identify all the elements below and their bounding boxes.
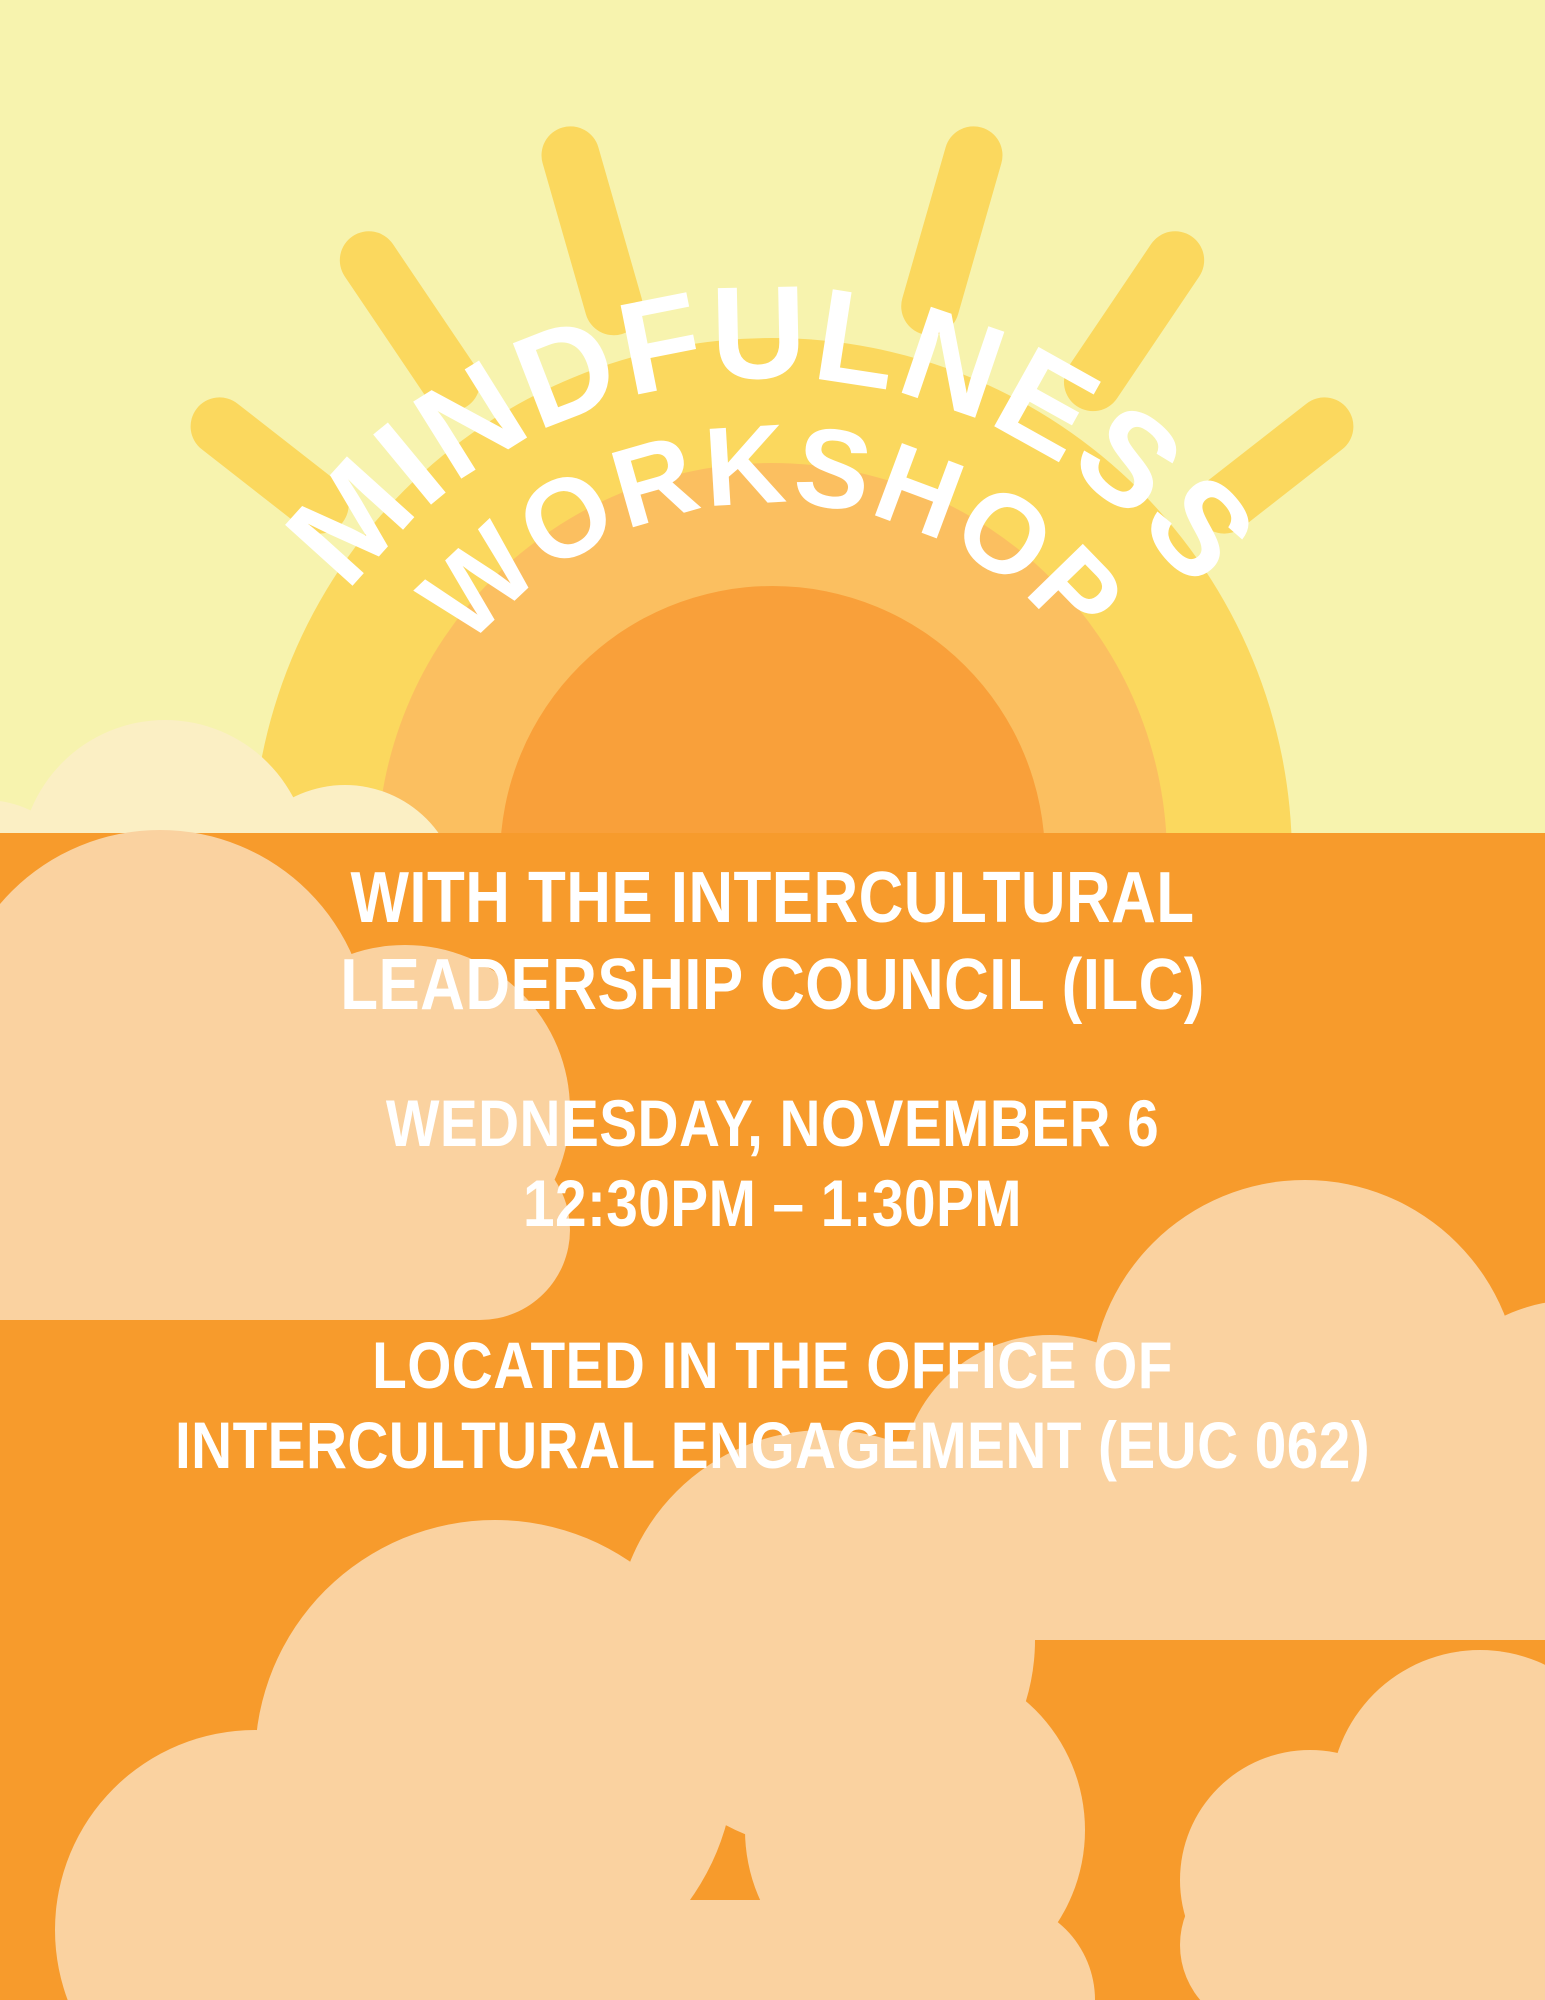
where-line-2: INTERCULTURAL ENGAGEMENT (EUC 062) bbox=[108, 1409, 1437, 1483]
sun-ray-1 bbox=[179, 386, 360, 546]
when-block: WEDNESDAY, NOVEMBER 6 12:30PM – 1:30PM bbox=[0, 1087, 1545, 1241]
when-line-time: 12:30PM – 1:30PM bbox=[108, 1167, 1437, 1241]
sun-ray-5 bbox=[1053, 220, 1216, 422]
who-block: WITH THE INTERCULTURAL LEADERSHIP COUNCI… bbox=[0, 858, 1545, 1025]
cloud-bottom-right bbox=[1180, 1610, 1545, 2000]
sun-ray-6 bbox=[1184, 386, 1365, 546]
sun-ray-2 bbox=[329, 220, 492, 422]
sun-ray-3 bbox=[535, 119, 650, 342]
who-line-2: LEADERSHIP COUNCIL (ILC) bbox=[108, 945, 1437, 1026]
who-line-1: WITH THE INTERCULTURAL bbox=[108, 858, 1437, 939]
poster-copy: WITH THE INTERCULTURAL LEADERSHIP COUNCI… bbox=[0, 840, 1545, 1483]
when-line-date: WEDNESDAY, NOVEMBER 6 bbox=[108, 1087, 1437, 1161]
cloud-bottom-center bbox=[55, 1430, 1115, 2000]
sun-ray-4 bbox=[894, 119, 1009, 342]
where-line-1: LOCATED IN THE OFFICE OF bbox=[108, 1329, 1437, 1403]
poster-canvas: MINDFULNESS WORKSHOP bbox=[0, 0, 1545, 2000]
where-block: LOCATED IN THE OFFICE OF INTERCULTURAL E… bbox=[0, 1329, 1545, 1483]
